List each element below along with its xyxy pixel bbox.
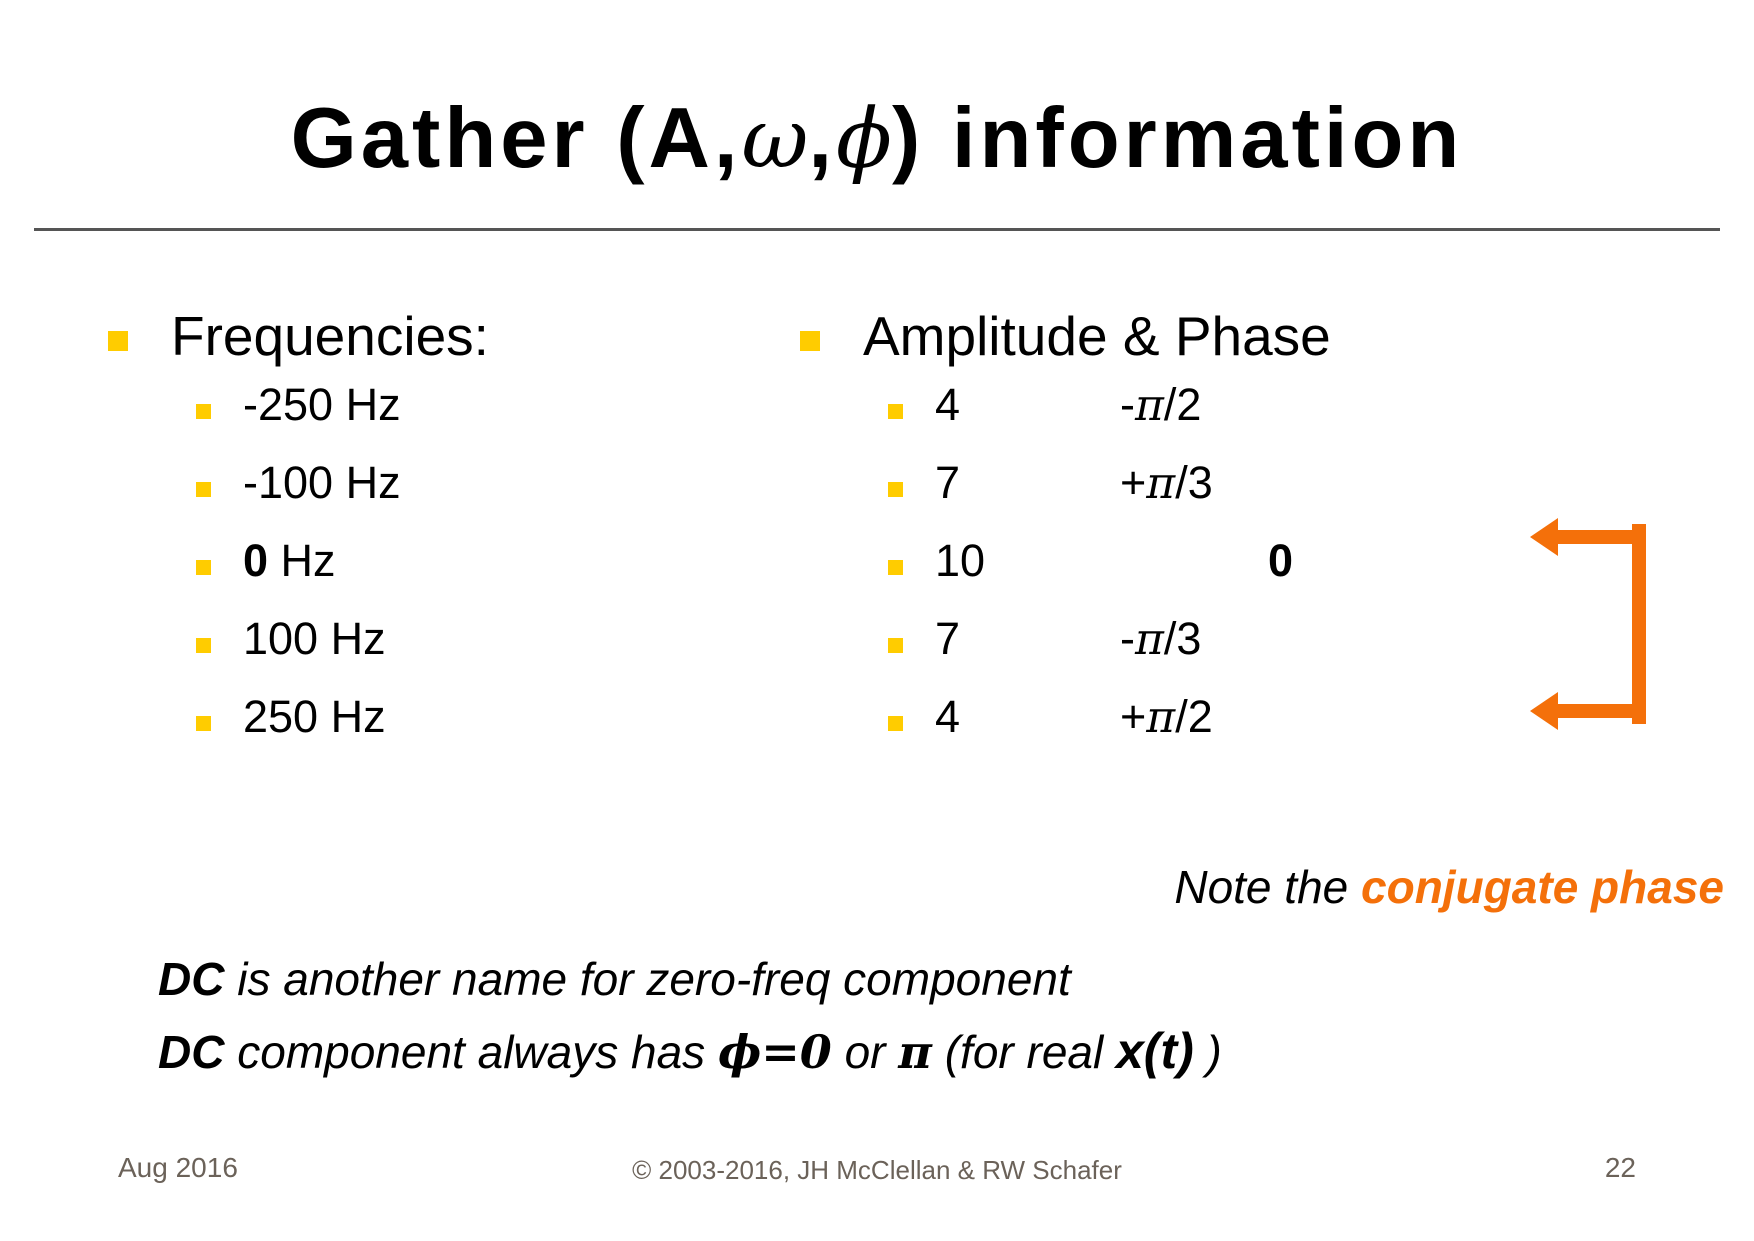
pi-symbol: π: [898, 1025, 932, 1079]
conjugate-phase-note: Note the conjugate phase: [0, 860, 1724, 914]
bullet-square-icon: [888, 560, 903, 575]
phase-value: +π/3: [1120, 456, 1213, 511]
frequency-value-dc-unit: Hz: [268, 535, 336, 586]
amplitude-value: 4: [935, 378, 1120, 432]
list-item: -250 Hz: [108, 378, 748, 450]
pi-symbol: π: [1146, 458, 1175, 509]
frequency-value: 250 Hz: [243, 690, 386, 744]
dc-line2-part4: ): [1194, 1026, 1222, 1078]
note-highlight-text: conjugate phase: [1361, 861, 1724, 913]
phase-value: -π/2: [1120, 378, 1201, 433]
slide: Gather (A,ω,ϕ) information Frequencies: …: [0, 0, 1754, 1241]
omega-symbol: ω: [742, 92, 809, 187]
dc-line2-part3: (for real: [932, 1026, 1116, 1078]
phase-sign: +: [1120, 457, 1146, 508]
bullet-square-icon: [888, 638, 903, 653]
bullet-square-icon: [800, 331, 820, 351]
phase-sign: -: [1120, 379, 1135, 430]
amplitude-phase-heading-label: Amplitude & Phase: [863, 306, 1331, 368]
phase-value: +π/2: [1120, 690, 1213, 745]
table-row: 7-π/3: [800, 612, 1520, 684]
note-plain-text: Note the: [1174, 861, 1361, 913]
conjugate-pair-bracket-icon: [1528, 518, 1658, 730]
table-row: 4+π/2: [800, 690, 1520, 762]
amplitude-value: 10: [935, 534, 1120, 588]
frequency-value: -100 Hz: [243, 456, 401, 510]
bullet-square-icon: [196, 638, 211, 653]
amplitude-phase-column: Amplitude & Phase 4-π/2 7+π/3 100 7-π/3 …: [800, 306, 1520, 768]
amplitude-phase-heading-item: Amplitude & Phase: [800, 306, 1520, 368]
title-divider: [34, 228, 1720, 231]
phi-equals-zero-symbol: ϕ=0: [718, 1025, 832, 1079]
pi-symbol: π: [1135, 380, 1164, 431]
dc-label: DC: [158, 1026, 224, 1078]
amplitude-value: 7: [935, 456, 1120, 510]
phase-fraction: /2: [1164, 379, 1202, 430]
footer-copyright: © 2003-2016, JH McClellan & RW Schafer: [0, 1155, 1754, 1186]
list-item: -100 Hz: [108, 456, 748, 528]
footer-page-number: 22: [1605, 1152, 1636, 1184]
frequency-value: -250 Hz: [243, 378, 401, 432]
table-row: 4-π/2: [800, 378, 1520, 450]
title-post: ) information: [892, 91, 1463, 186]
pi-symbol: π: [1146, 692, 1175, 743]
pi-symbol: π: [1135, 614, 1164, 665]
phase-fraction: /2: [1175, 691, 1213, 742]
phase-sign: +: [1120, 691, 1146, 742]
dc-line1-rest: is another name for zero-freq component: [224, 953, 1070, 1005]
dc-line2-part1: component always has: [224, 1026, 718, 1078]
bullet-square-icon: [888, 482, 903, 497]
phase-value-zero: 0: [1120, 534, 1293, 588]
table-row: 100: [800, 534, 1520, 606]
frequencies-heading-label: Frequencies:: [171, 306, 489, 368]
phase-value: -π/3: [1120, 612, 1201, 667]
dc-label: DC: [158, 953, 224, 1005]
bullet-square-icon: [108, 331, 128, 351]
bullet-square-icon: [196, 404, 211, 419]
frequency-value-dc-bold: 0: [243, 535, 268, 586]
bullet-square-icon: [888, 404, 903, 419]
list-item: 0 Hz: [108, 534, 748, 606]
bullet-square-icon: [196, 716, 211, 731]
list-item: 250 Hz: [108, 690, 748, 762]
frequencies-column: Frequencies: -250 Hz -100 Hz 0 Hz 100 Hz…: [108, 306, 748, 768]
bullet-square-icon: [888, 716, 903, 731]
frequencies-heading-item: Frequencies:: [108, 306, 748, 368]
frequency-value: 100 Hz: [243, 612, 386, 666]
amplitude-value: 4: [935, 690, 1120, 744]
bullet-square-icon: [196, 560, 211, 575]
frequency-value-dc: 0 Hz: [243, 534, 336, 588]
table-row: 7+π/3: [800, 456, 1520, 528]
signal-xt-symbol: x(t): [1116, 1023, 1194, 1079]
dc-note-line-1: DC is another name for zero-freq compone…: [158, 952, 1071, 1006]
phi-symbol: ϕ: [836, 92, 892, 187]
amplitude-value: 7: [935, 612, 1120, 666]
phase-sign: -: [1120, 613, 1135, 664]
bullet-square-icon: [196, 482, 211, 497]
title-pre: Gather (A,: [291, 91, 742, 186]
page-title: Gather (A,ω,ϕ) information: [0, 96, 1754, 181]
title-comma: ,: [808, 91, 836, 186]
phase-fraction: /3: [1164, 613, 1202, 664]
dc-note-line-2: DC component always has ϕ=0 or π (for re…: [158, 1022, 1222, 1080]
dc-line2-part2: or: [832, 1026, 898, 1078]
list-item: 100 Hz: [108, 612, 748, 684]
phase-fraction: /3: [1175, 457, 1213, 508]
